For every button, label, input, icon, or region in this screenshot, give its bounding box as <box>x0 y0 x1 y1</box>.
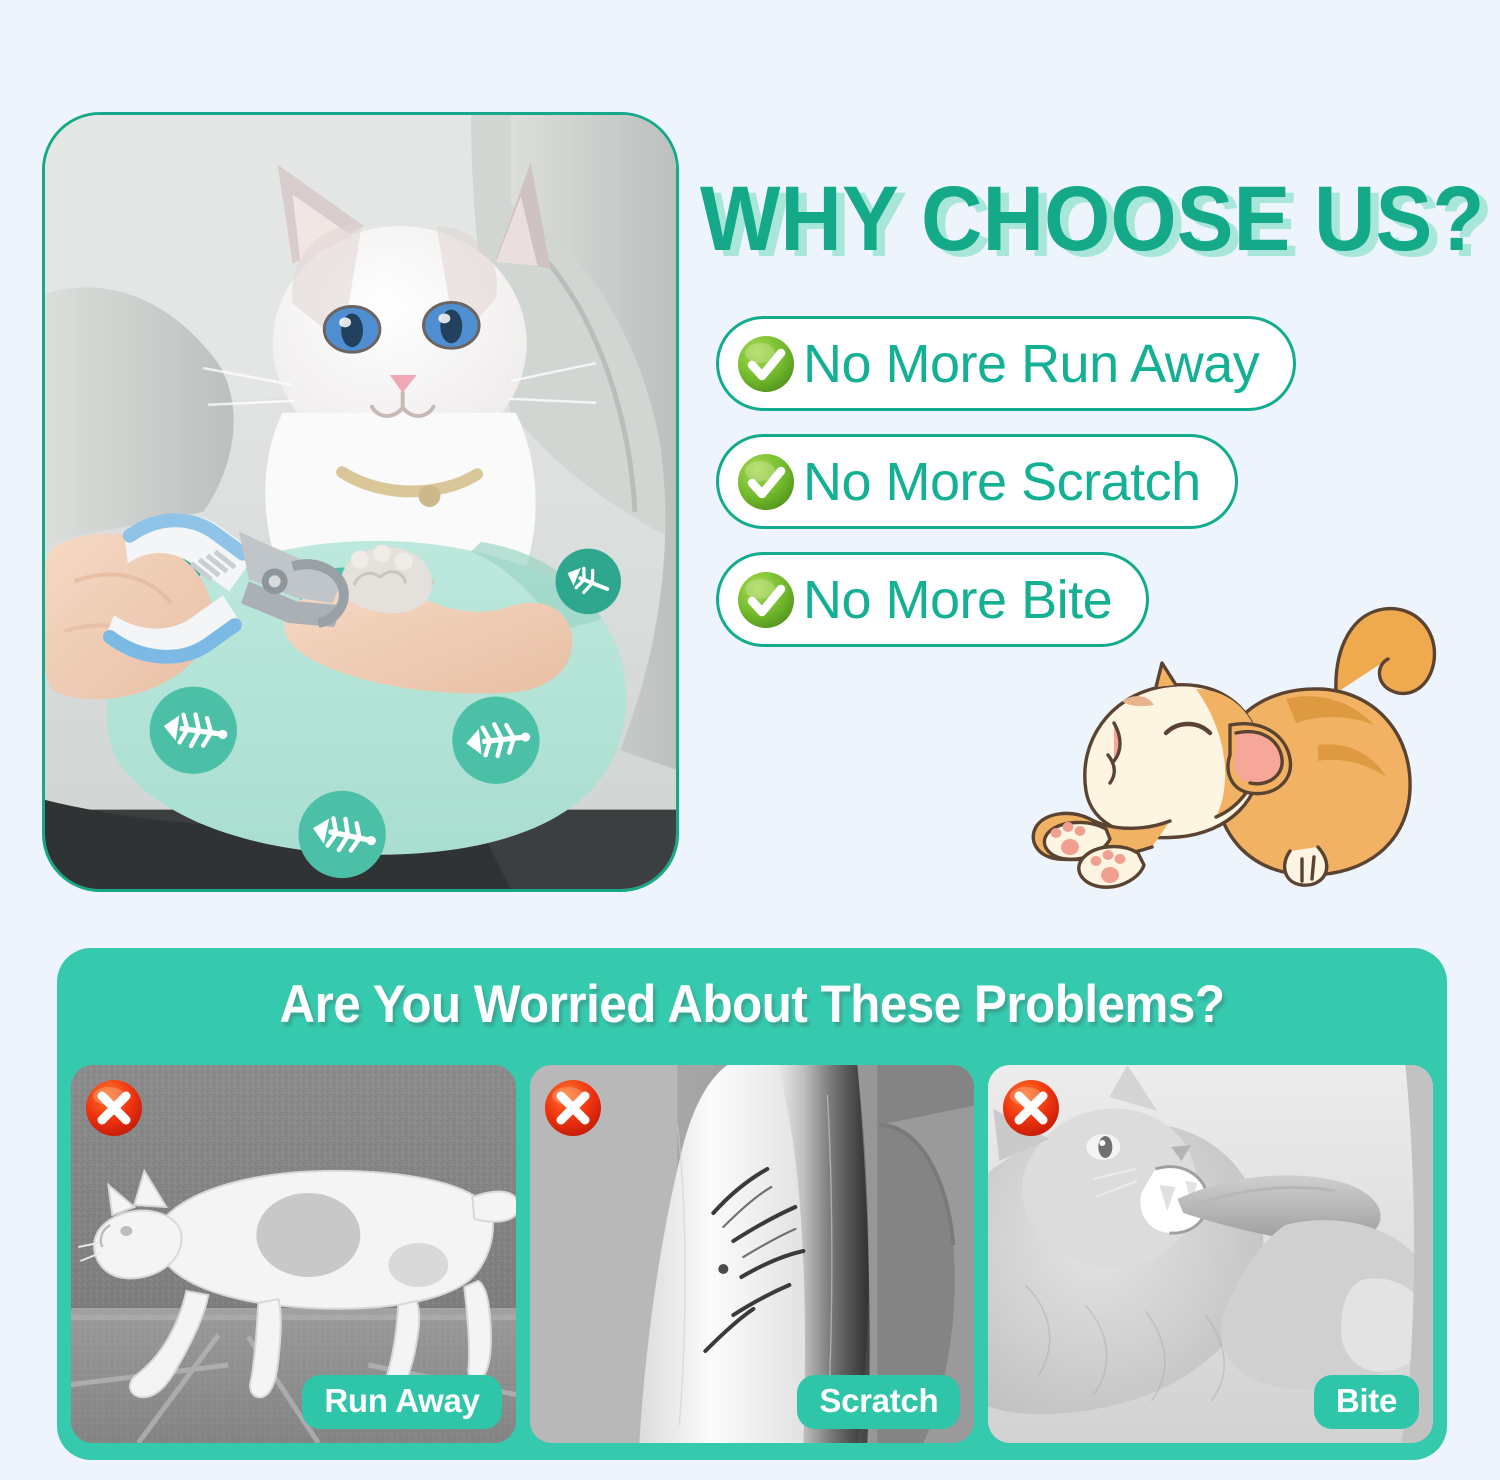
feature-pill-run-away[interactable]: No More Run Away <box>716 316 1296 411</box>
problem-card-tag: Run Away <box>302 1375 501 1429</box>
problem-card-scratch[interactable]: Scratch <box>530 1065 975 1443</box>
x-circle-icon <box>83 1077 145 1139</box>
problem-card-tag: Bite <box>1314 1375 1419 1429</box>
problems-banner: Are You Worried About These Problems? <box>57 948 1447 1460</box>
feature-pill-scratch[interactable]: No More Scratch <box>716 434 1238 529</box>
check-circle-icon <box>735 569 797 631</box>
problem-card-tag: Scratch <box>797 1375 960 1429</box>
problem-card-run-away[interactable]: Run Away <box>71 1065 516 1443</box>
check-circle-icon <box>735 451 797 513</box>
problem-card-bite[interactable]: Bite <box>988 1065 1433 1443</box>
why-choose-us-title-art: WHY CHOOSE US? WHY CHOOSE US? <box>700 168 1490 278</box>
feature-pill-label: No More Scratch <box>803 451 1201 513</box>
problem-card-grid: Run Away <box>71 1065 1433 1443</box>
hero-photo-illustration <box>45 115 676 889</box>
feature-pill-label: No More Run Away <box>803 333 1259 395</box>
check-circle-icon <box>735 333 797 395</box>
hero-product-photo <box>42 112 679 892</box>
x-circle-icon <box>542 1077 604 1139</box>
page-title: WHY CHOOSE US? WHY CHOOSE US? <box>700 168 1490 278</box>
svg-text:WHY CHOOSE US?: WHY CHOOSE US? <box>700 168 1484 270</box>
cartoon-cat-mascot <box>1018 575 1468 915</box>
stretching-kitten-illustration <box>1018 575 1468 915</box>
problems-heading: Are You Worried About These Problems? <box>106 974 1399 1035</box>
x-circle-icon <box>1000 1077 1062 1139</box>
product-marketing-page: WHY CHOOSE US? WHY CHOOSE US? <box>0 0 1500 1480</box>
